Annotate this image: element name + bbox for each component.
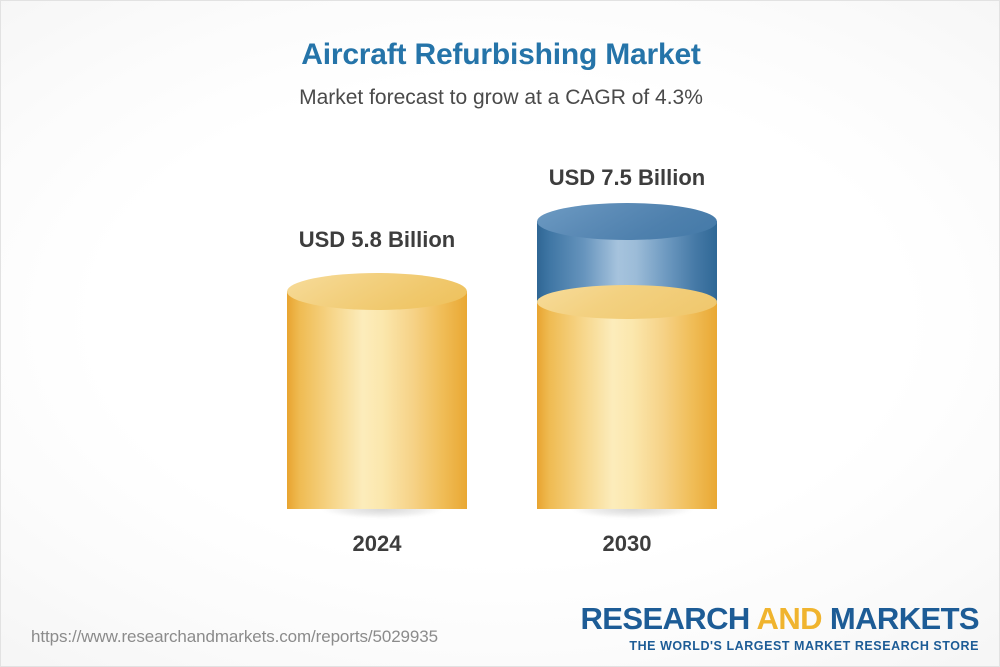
chart-plot-area: USD 5.8 Billion 2024 USD 7.5 Billion <box>1 1 1000 667</box>
logo-word-markets: MARKETS <box>830 601 979 636</box>
source-url[interactable]: https://www.researchandmarkets.com/repor… <box>31 627 438 647</box>
chart-footer: https://www.researchandmarkets.com/repor… <box>1 594 1000 666</box>
logo-word-research: RESEARCH <box>581 601 750 636</box>
cylinder-2024[interactable] <box>287 273 467 509</box>
infographic-canvas: Aircraft Refurbishing Market Market fore… <box>0 0 1000 667</box>
bar-segment-base-2024[interactable] <box>287 291 467 509</box>
brand-logo[interactable]: RESEARCH AND MARKETS THE WORLD'S LARGEST… <box>581 603 980 653</box>
bar-category-label-2024: 2024 <box>287 531 467 557</box>
segment-body <box>537 303 717 509</box>
bar-category-label-2030: 2030 <box>537 531 717 557</box>
logo-wordmark: RESEARCH AND MARKETS <box>581 603 980 634</box>
cylinder-top-cap-2024 <box>287 273 467 310</box>
bar-value-label-2030: USD 7.5 Billion <box>537 165 717 191</box>
bar-value-label-2024: USD 5.8 Billion <box>287 227 467 253</box>
bar-segment-base-2030[interactable] <box>537 303 717 509</box>
segment-body <box>287 291 467 509</box>
segment-joint-ellipse-2030 <box>537 285 717 319</box>
bar-group-2024: USD 5.8 Billion 2024 <box>287 1 467 667</box>
cylinder-top-cap-2030 <box>537 203 717 240</box>
logo-word-and: AND <box>750 601 830 636</box>
bar-group-2030: USD 7.5 Billion 2030 <box>537 1 717 667</box>
logo-tagline: THE WORLD'S LARGEST MARKET RESEARCH STOR… <box>581 640 980 653</box>
cylinder-2030[interactable] <box>537 203 717 509</box>
